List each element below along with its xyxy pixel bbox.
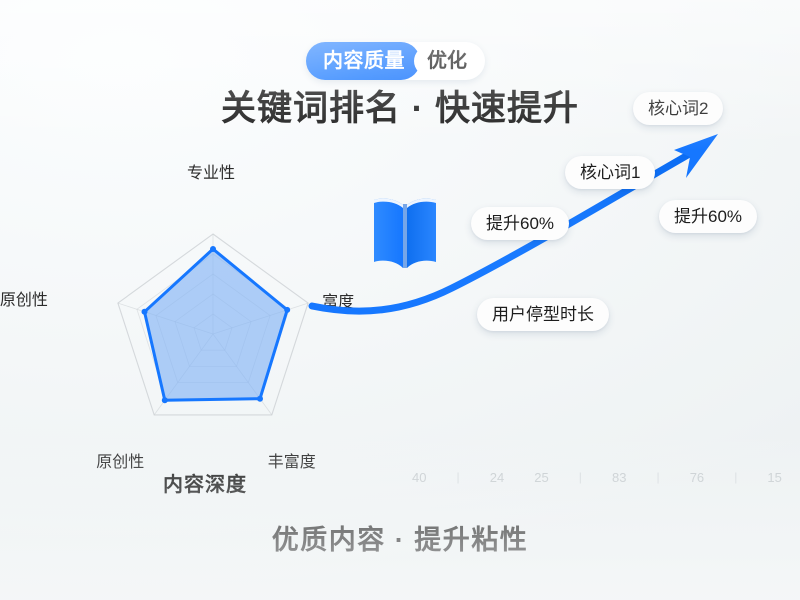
content-depth-caption: 内容深度: [163, 468, 247, 497]
radar-axis-label-4: 原创性: [96, 455, 144, 471]
pill-uplift-right[interactable]: 提升60%: [659, 200, 757, 233]
page-footer-title: 优质内容 · 提升粘性: [0, 518, 800, 557]
badge-secondary-label: 优化: [414, 46, 480, 76]
tick-value-6: 83: [612, 471, 626, 484]
radar-axis-label-1: 专业性: [187, 166, 235, 182]
tick-mark: |: [734, 471, 737, 483]
pill-dwell-time[interactable]: 用户停型时长: [477, 298, 609, 331]
open-book-icon: [372, 188, 438, 272]
badge-primary-label: 内容质量: [306, 42, 420, 80]
infographic-canvas: 内容质量 优化 关键词排名 · 快速提升 专业性富度丰富度原创性原创性 内容深度: [0, 0, 800, 600]
tick-value-1: 40: [412, 471, 426, 484]
radar-axis-label-5: 原创性: [0, 293, 48, 309]
pill-uplift-left[interactable]: 提升60%: [471, 207, 569, 240]
radar-chart: 专业性富度丰富度原创性原创性: [28, 185, 408, 475]
pill-core-keyword-1[interactable]: 核心词1: [565, 156, 655, 189]
radar-chart-svg: [28, 185, 408, 475]
faint-tick-axis: 40|2425|83|76|15: [412, 466, 782, 488]
radar-point: [284, 307, 290, 313]
radar-point: [162, 397, 168, 403]
radar-axis-label-3: 丰富度: [268, 455, 316, 471]
pill-core-keyword-2[interactable]: 核心词2: [633, 92, 723, 125]
tick-value-8: 76: [690, 471, 704, 484]
tick-value-4: 25: [534, 471, 548, 484]
radar-axis-label-2: 富度: [322, 295, 354, 311]
arrow-head: [674, 134, 718, 178]
radar-point: [210, 246, 216, 252]
tick-mark: |: [457, 471, 460, 483]
tick-mark: |: [657, 471, 660, 483]
tick-value-10: 15: [767, 471, 781, 484]
radar-point: [142, 309, 148, 315]
tick-mark: |: [579, 471, 582, 483]
content-quality-badge: 内容质量 优化: [306, 42, 485, 80]
tick-value-3: 24: [490, 471, 504, 484]
radar-point: [257, 396, 263, 402]
